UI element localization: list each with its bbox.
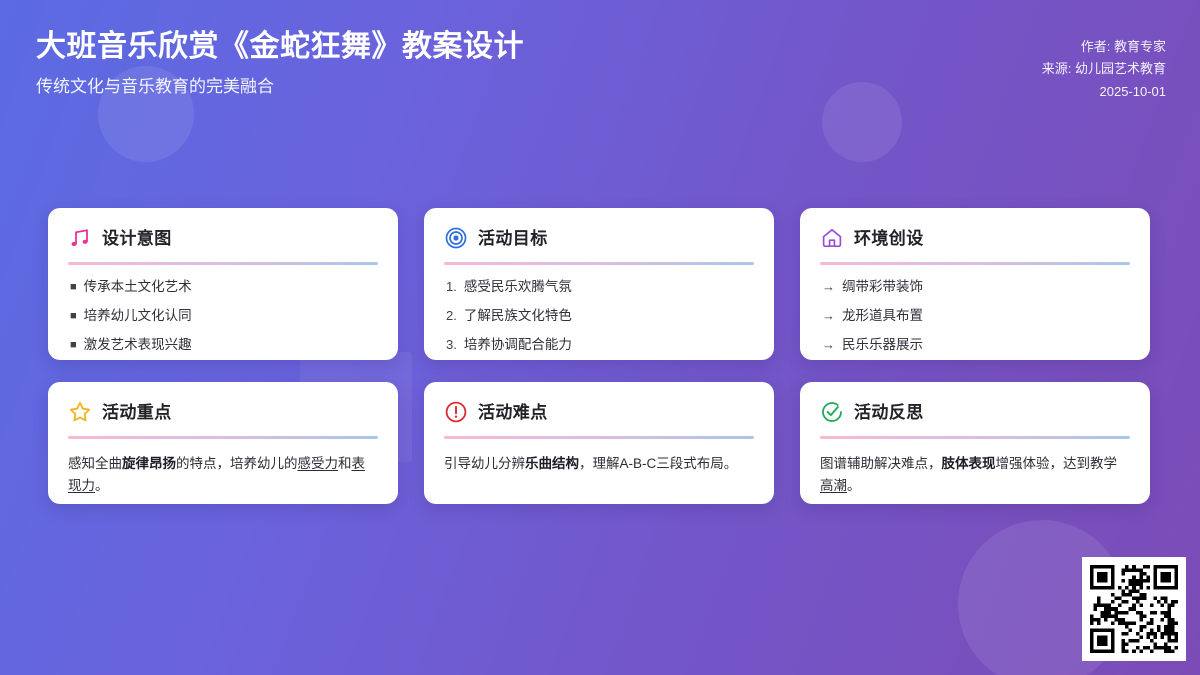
card-divider <box>68 436 378 439</box>
list-item-label: 感受民乐欢腾气氛 <box>464 278 572 296</box>
music-note-icon <box>68 226 92 250</box>
list-item-label: 培养幼儿文化认同 <box>84 307 192 325</box>
card-title: 设计意图 <box>102 230 172 247</box>
list-item-label: 了解民族文化特色 <box>464 307 572 325</box>
card-header: 设计意图 <box>68 226 378 250</box>
star-icon <box>68 400 92 424</box>
card-title: 环境创设 <box>854 230 924 247</box>
card-header: 环境创设 <box>820 226 1130 250</box>
list-item: 1.感受民乐欢腾气氛 <box>446 278 754 296</box>
card-environment-setup[interactable]: 环境创设 →绸带彩带装饰 →龙形道具布置 →民乐乐器展示 <box>800 208 1150 360</box>
card-activity-reflection[interactable]: 活动反思 图谱辅助解决难点，肢体表现增强体验，达到教学高潮。 <box>800 382 1150 504</box>
card-bullet-list: ■传承本土文化艺术 ■培养幼儿文化认同 ■激发艺术表现兴趣 <box>68 278 378 355</box>
card-title: 活动重点 <box>102 404 172 421</box>
card-activity-goals[interactable]: 活动目标 1.感受民乐欢腾气氛 2.了解民族文化特色 3.培养协调配合能力 <box>424 208 774 360</box>
slide-header: 大班音乐欣赏《金蛇狂舞》教案设计 传统文化与音乐教育的完美融合 作者: 教育专家… <box>0 0 1200 160</box>
list-item: 2.了解民族文化特色 <box>446 307 754 325</box>
list-item: →绸带彩带装饰 <box>822 278 1130 296</box>
exclamation-circle-icon <box>444 400 468 424</box>
card-grid: 设计意图 ■传承本土文化艺术 ■培养幼儿文化认同 ■激发艺术表现兴趣 活动目 <box>48 208 1152 504</box>
card-design-intent[interactable]: 设计意图 ■传承本土文化艺术 ■培养幼儿文化认同 ■激发艺术表现兴趣 <box>48 208 398 360</box>
number-marker: 2. <box>446 307 457 325</box>
card-divider <box>444 262 754 265</box>
card-divider <box>820 436 1130 439</box>
card-header: 活动目标 <box>444 226 754 250</box>
meta-source: 来源: 幼儿园艺术教育 <box>1042 58 1166 80</box>
card-activity-focus[interactable]: 活动重点 感知全曲旋律昂扬的特点，培养幼儿的感受力和表现力。 <box>48 382 398 504</box>
list-item-label: 龙形道具布置 <box>842 307 923 325</box>
header-meta-block: 作者: 教育专家 来源: 幼儿园艺术教育 2025-10-01 <box>1042 28 1166 103</box>
card-header: 活动难点 <box>444 400 754 424</box>
list-item: ■传承本土文化艺术 <box>70 278 378 296</box>
list-item: →龙形道具布置 <box>822 307 1130 325</box>
card-activity-difficulty[interactable]: 活动难点 引导幼儿分辨乐曲结构，理解A-B-C三段式布局。 <box>424 382 774 504</box>
list-item-label: 激发艺术表现兴趣 <box>84 336 192 354</box>
page-subtitle: 传统文化与音乐教育的完美融合 <box>36 76 524 98</box>
meta-date: 2025-10-01 <box>1042 81 1166 103</box>
list-item-label: 培养协调配合能力 <box>464 336 572 354</box>
card-numbered-list: 1.感受民乐欢腾气氛 2.了解民族文化特色 3.培养协调配合能力 <box>444 278 754 355</box>
card-title: 活动目标 <box>478 230 548 247</box>
meta-author: 作者: 教育专家 <box>1042 36 1166 58</box>
card-paragraph: 图谱辅助解决难点，肢体表现增强体验，达到教学高潮。 <box>820 453 1130 497</box>
number-marker: 1. <box>446 278 457 296</box>
house-icon <box>820 226 844 250</box>
arrow-right-icon: → <box>822 307 835 325</box>
card-divider <box>444 436 754 439</box>
list-item: →民乐乐器展示 <box>822 336 1130 354</box>
header-title-block: 大班音乐欣赏《金蛇狂舞》教案设计 传统文化与音乐教育的完美融合 <box>36 28 524 98</box>
list-item-label: 绸带彩带装饰 <box>842 278 923 296</box>
card-divider <box>820 262 1130 265</box>
list-item-label: 传承本土文化艺术 <box>84 278 192 296</box>
list-item: ■培养幼儿文化认同 <box>70 307 378 325</box>
bullet-marker: ■ <box>70 340 77 351</box>
card-header: 活动重点 <box>68 400 378 424</box>
list-item: 3.培养协调配合能力 <box>446 336 754 354</box>
bullet-marker: ■ <box>70 282 77 293</box>
page-title: 大班音乐欣赏《金蛇狂舞》教案设计 <box>36 28 524 66</box>
card-title: 活动难点 <box>478 404 548 421</box>
number-marker: 3. <box>446 336 457 354</box>
card-paragraph: 感知全曲旋律昂扬的特点，培养幼儿的感受力和表现力。 <box>68 453 378 497</box>
check-circle-icon <box>820 400 844 424</box>
card-arrow-list: →绸带彩带装饰 →龙形道具布置 →民乐乐器展示 <box>820 278 1130 355</box>
card-divider <box>68 262 378 265</box>
arrow-right-icon: → <box>822 278 835 296</box>
card-title: 活动反思 <box>854 404 924 421</box>
slide-canvas: 大班音乐欣赏《金蛇狂舞》教案设计 传统文化与音乐教育的完美融合 作者: 教育专家… <box>0 0 1200 675</box>
target-icon <box>444 226 468 250</box>
bullet-marker: ■ <box>70 311 77 322</box>
qr-code[interactable] <box>1082 557 1186 661</box>
card-header: 活动反思 <box>820 400 1130 424</box>
arrow-right-icon: → <box>822 336 835 354</box>
card-paragraph: 引导幼儿分辨乐曲结构，理解A-B-C三段式布局。 <box>444 453 754 475</box>
list-item-label: 民乐乐器展示 <box>842 336 923 354</box>
list-item: ■激发艺术表现兴趣 <box>70 336 378 354</box>
